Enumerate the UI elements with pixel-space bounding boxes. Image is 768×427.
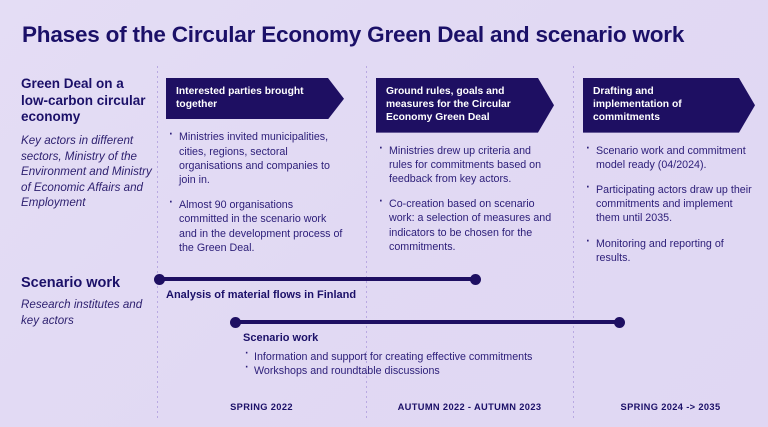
phase-column-3: Drafting and implementation of commitmen… <box>583 78 755 276</box>
list-item: Ministries drew up criteria and rules fo… <box>376 144 554 187</box>
phase-date-3: SPRING 2024 -> 2035 <box>573 402 768 412</box>
timeline-bar-2-bullets: Information and support for creating eff… <box>243 350 663 379</box>
phase-column-1: Interested parties brought together Mini… <box>166 78 344 266</box>
page-title: Phases of the Circular Economy Green Dea… <box>22 22 752 48</box>
phase-banner-2: Ground rules, goals and measures for the… <box>376 78 554 133</box>
column-separator-1 <box>157 66 158 421</box>
infographic-canvas: Phases of the Circular Economy Green Dea… <box>0 0 768 427</box>
timeline-bar-2-end-dot <box>614 317 625 328</box>
timeline-bar-1 <box>159 277 476 281</box>
list-item: Participating actors draw up their commi… <box>583 183 755 226</box>
list-item: Monitoring and reporting of results. <box>583 237 755 265</box>
phase-date-2: AUTUMN 2022 - AUTUMN 2023 <box>366 402 573 412</box>
green-deal-rail-subtext: Key actors in different sectors, Ministr… <box>21 133 153 211</box>
list-item: Almost 90 organisations committed in the… <box>166 198 344 255</box>
phase-banner-3: Drafting and implementation of commitmen… <box>583 78 755 133</box>
phase-banner-1: Interested parties brought together <box>166 78 344 119</box>
green-deal-rail-heading: Green Deal on a low-carbon circular econ… <box>21 76 153 126</box>
phase-date-1: SPRING 2022 <box>157 402 366 412</box>
timeline-bar-1-start-dot <box>154 274 165 285</box>
timeline-bar-1-label: Analysis of material flows in Finland <box>166 289 356 301</box>
timeline-bar-2-label: Scenario work <box>243 332 318 344</box>
timeline-bar-2-start-dot <box>230 317 241 328</box>
list-item: Scenario work and commitment model ready… <box>583 144 755 172</box>
phase-bullets-3: Scenario work and commitment model ready… <box>583 144 755 265</box>
phase-column-2: Ground rules, goals and measures for the… <box>376 78 554 265</box>
list-item: Workshops and roundtable discussions <box>243 364 663 378</box>
scenario-work-rail-subtext: Research institutes and key actors <box>21 297 161 328</box>
list-item: Information and support for creating eff… <box>243 350 663 364</box>
phase-bullets-1: Ministries invited municipalities, citie… <box>166 130 344 255</box>
timeline-bar-2 <box>235 320 620 324</box>
list-item: Co-creation based on scenario work: a se… <box>376 197 554 254</box>
scenario-work-rail-heading: Scenario work <box>21 275 161 292</box>
timeline-bar-1-end-dot <box>470 274 481 285</box>
list-item: Ministries invited municipalities, citie… <box>166 130 344 187</box>
phase-bullets-2: Ministries drew up criteria and rules fo… <box>376 144 554 254</box>
